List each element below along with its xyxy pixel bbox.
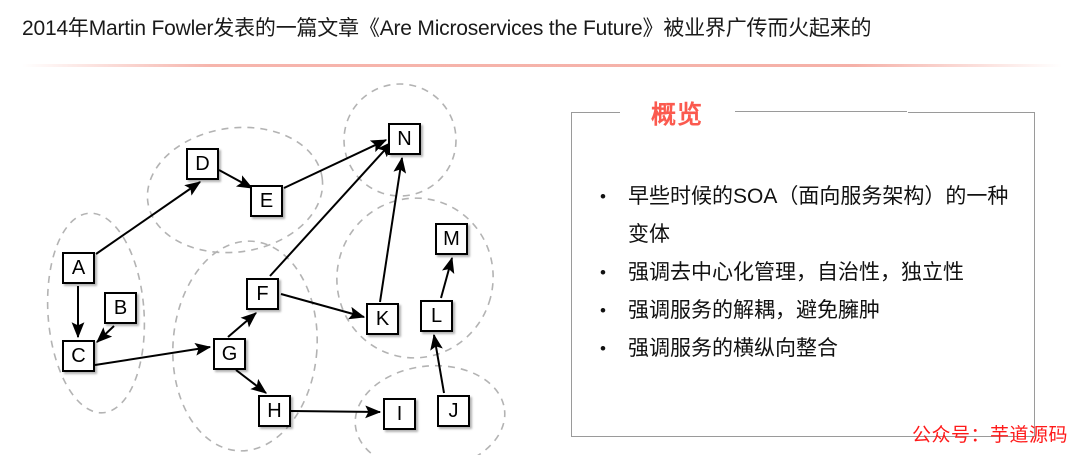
edge-d-to-e (219, 170, 252, 188)
overview-bullet-item: 强调服务的解耦，避免臃肿 (596, 292, 1026, 330)
node-a: A (62, 252, 95, 284)
overview-bullet-item: 强调去中心化管理，自治性，独立性 (596, 254, 1026, 292)
page-title: 2014年Martin Fowler发表的一篇文章《Are Microservi… (22, 12, 871, 42)
edge-k-to-n (380, 158, 402, 302)
overview-bullet-item: 强调服务的横纵向整合 (596, 330, 1026, 368)
overview-heading: 概览 (637, 95, 717, 131)
edge-j-to-l (434, 335, 444, 393)
edge-c-to-g (95, 347, 210, 365)
title-divider (22, 64, 1062, 67)
edge-g-to-f (228, 313, 256, 337)
edge-b-to-c (97, 326, 114, 342)
node-k: K (366, 303, 399, 335)
watermark-label: 公众号：芋道源码 (912, 420, 1068, 447)
node-n: N (388, 123, 421, 155)
overview-bullet-list: 早些时候的SOA（面向服务架构）的一种变体强调去中心化管理，自治性，独立性强调服… (596, 178, 1026, 368)
node-j: J (437, 395, 470, 427)
edge-a-to-d (96, 182, 200, 254)
node-d: D (186, 148, 219, 180)
node-f: F (246, 278, 279, 310)
node-c: C (62, 340, 95, 372)
node-m: M (435, 223, 468, 255)
edge-f-to-k (281, 294, 364, 317)
edge-arrows (78, 140, 452, 412)
architecture-diagram: ABCDEFGHIJKLMN (0, 78, 560, 455)
edge-g-to-h (236, 370, 266, 393)
node-i: I (383, 398, 416, 430)
node-l: L (420, 300, 453, 332)
group-ij (350, 358, 510, 455)
node-e: E (250, 185, 283, 217)
group-klm (319, 181, 511, 376)
node-h: H (258, 395, 291, 427)
overview-bullet-item: 早些时候的SOA（面向服务架构）的一种变体 (596, 178, 1026, 254)
edge-h-to-i (291, 411, 380, 412)
edge-l-to-m (441, 258, 452, 298)
node-b: B (104, 292, 137, 324)
overview-title-rule (735, 111, 907, 112)
edge-f-to-n (270, 142, 392, 276)
node-g: G (213, 338, 246, 370)
